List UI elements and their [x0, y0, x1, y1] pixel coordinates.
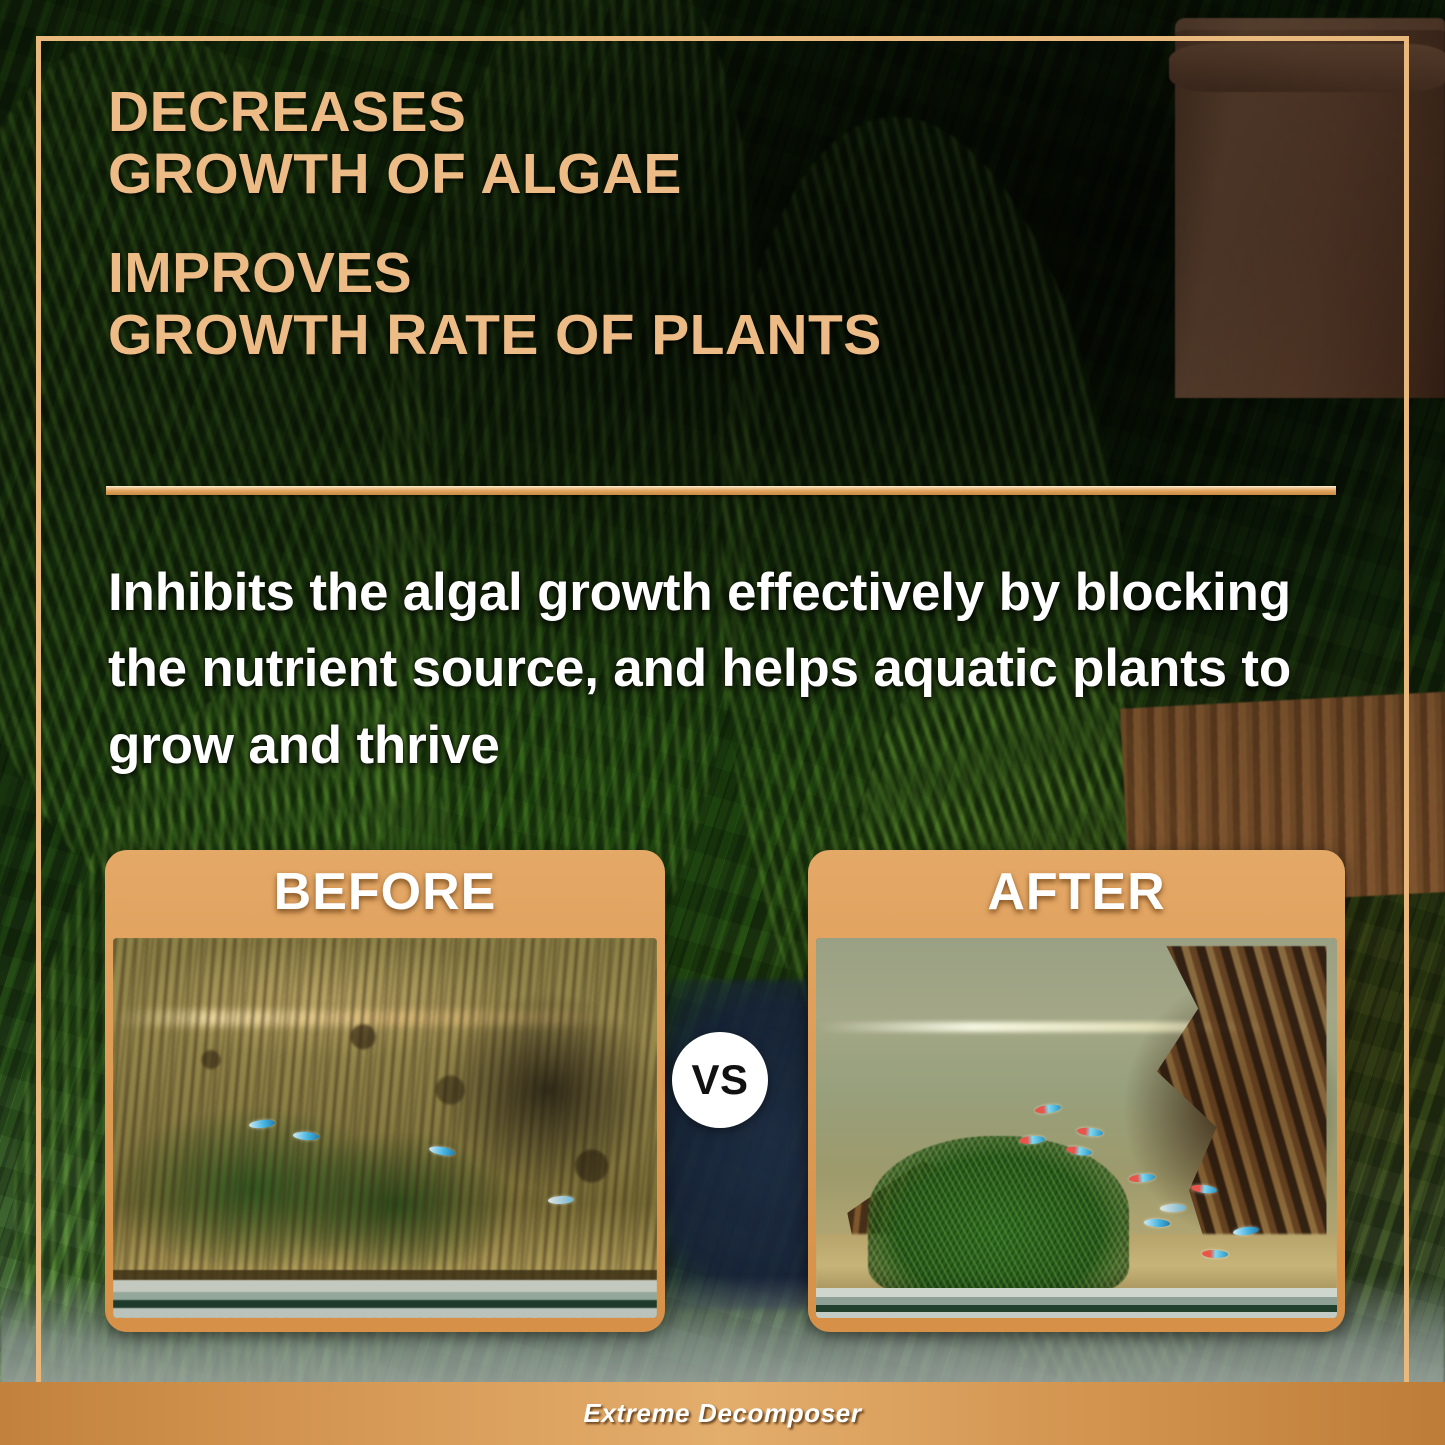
before-panel: BEFORE — [105, 850, 665, 1332]
headline-decreases-algae: DECREASES GROWTH OF ALGAE — [108, 82, 1338, 205]
gold-divider-rule — [106, 486, 1336, 495]
footer-brand-label: Extreme Decomposer — [583, 1398, 861, 1429]
headline-group: DECREASES GROWTH OF ALGAE IMPROVES GROWT… — [108, 82, 1338, 366]
neon-tetra-fish — [1201, 1249, 1227, 1258]
footer-brand-bar: Extreme Decomposer — [0, 1382, 1445, 1445]
after-tank-base-rim — [816, 1288, 1337, 1318]
before-label: BEFORE — [105, 862, 665, 922]
vs-badge: VS — [672, 1032, 768, 1128]
after-label: AFTER — [808, 862, 1345, 922]
headline-improves-plants: IMPROVES GROWTH RATE OF PLANTS — [108, 243, 1338, 366]
after-panel: AFTER — [808, 850, 1345, 1332]
after-aquarium-photo — [816, 938, 1337, 1318]
before-tank-base-rim — [113, 1270, 657, 1318]
before-algae-grime-layer — [113, 938, 657, 1318]
body-paragraph: Inhibits the algal growth effectively by… — [108, 555, 1318, 784]
moss-plant-cluster — [868, 1136, 1129, 1296]
before-aquarium-photo — [113, 938, 657, 1318]
headline-spacer — [108, 205, 1338, 243]
vs-badge-label: VS — [691, 1056, 748, 1104]
promo-infographic: DECREASES GROWTH OF ALGAE IMPROVES GROWT… — [0, 0, 1445, 1445]
